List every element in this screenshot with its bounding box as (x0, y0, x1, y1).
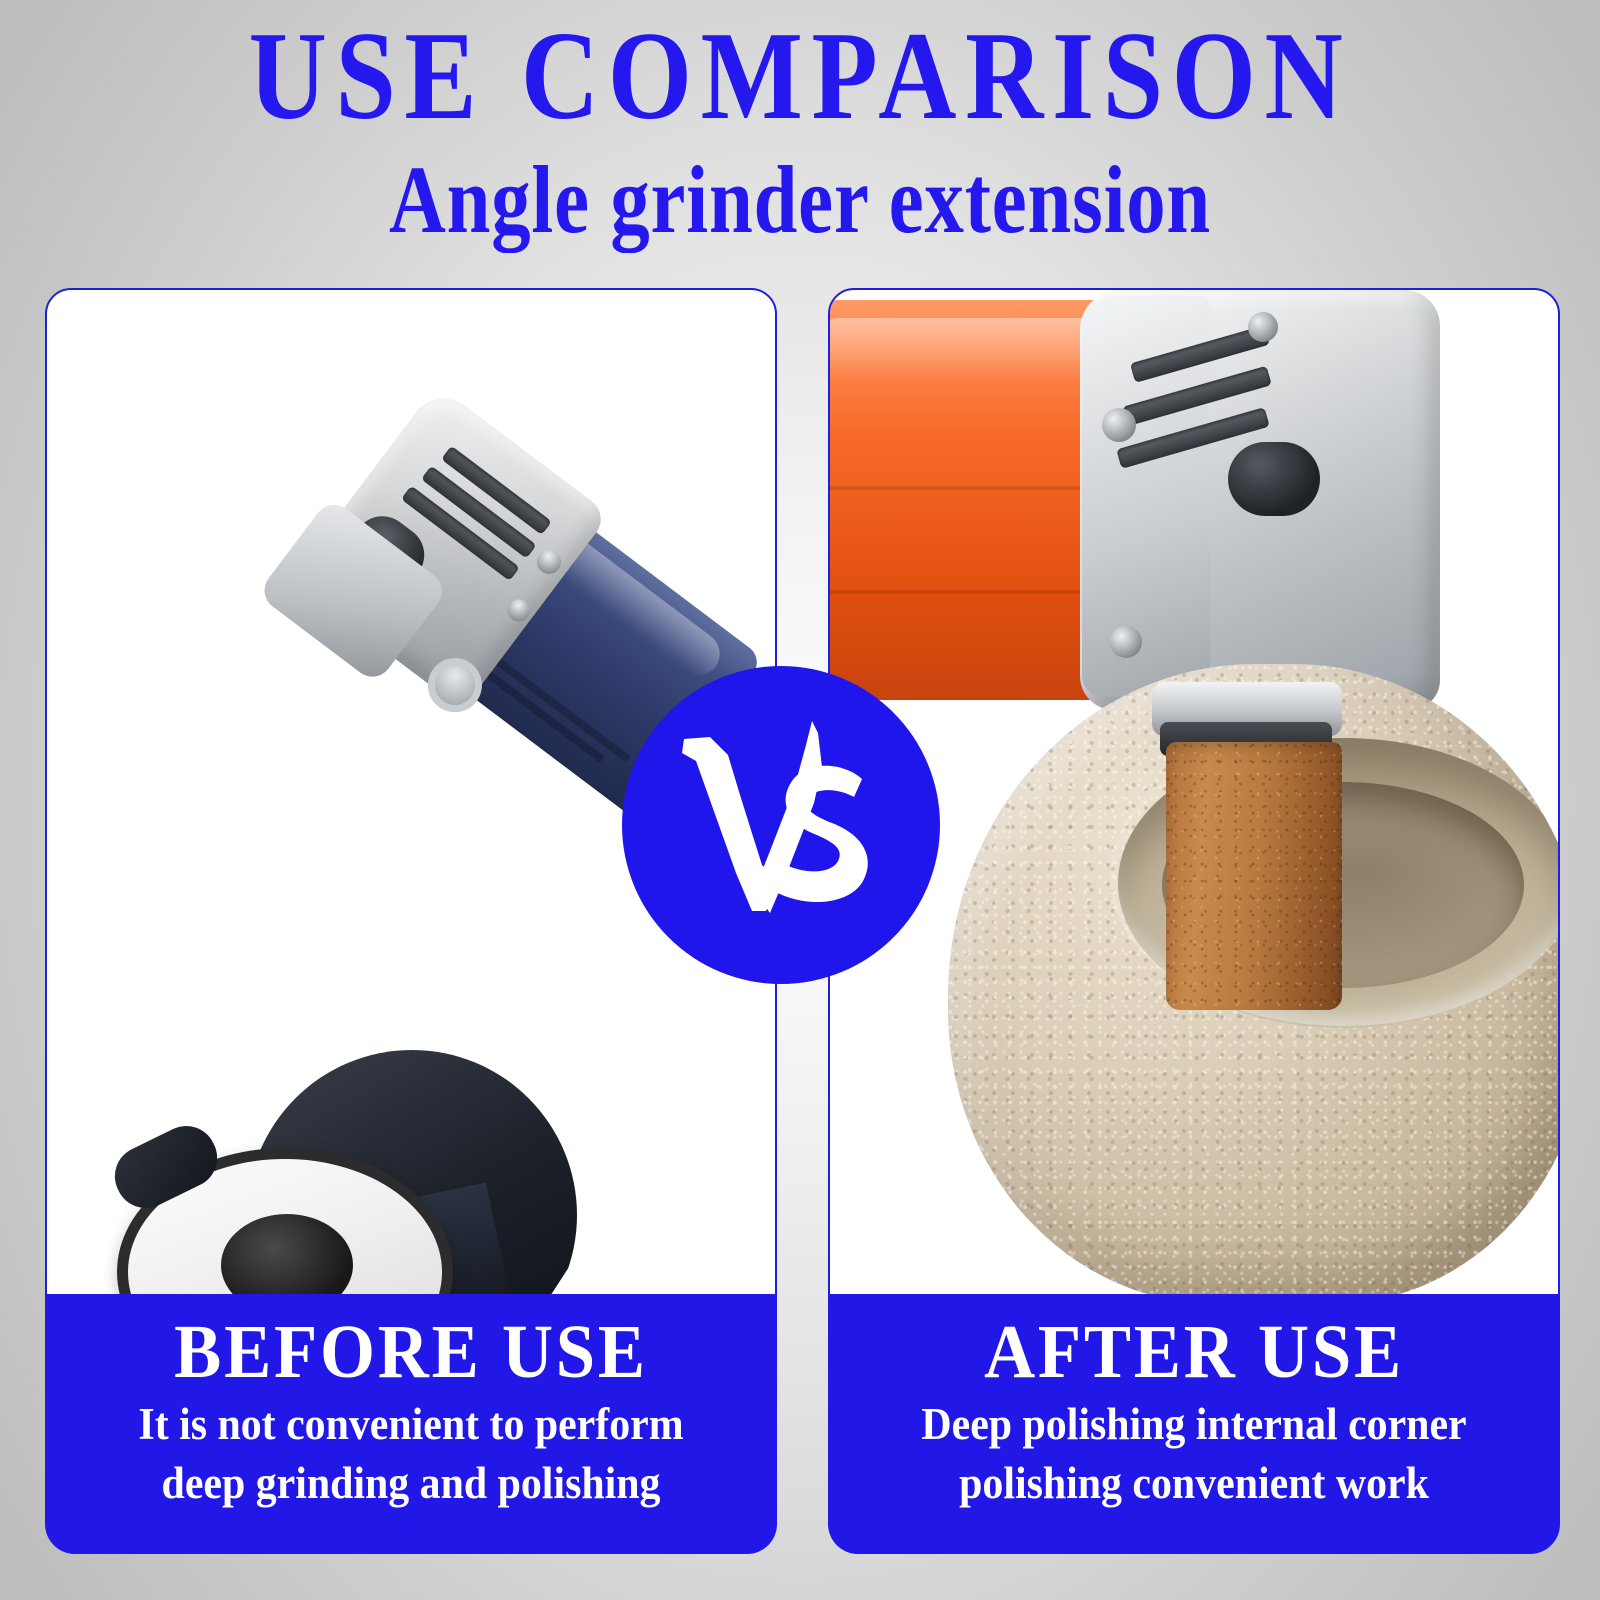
orange-angle-grinder-illustration (830, 290, 1558, 1294)
sanding-grit-texture (1166, 742, 1342, 1010)
caption-line-1: Deep polishing internal corner (854, 1396, 1535, 1453)
header: USE COMPARISON Angle grinder extension (0, 0, 1600, 268)
page-subtitle: Angle grinder extension (144, 152, 1456, 248)
screw-icon (1102, 408, 1136, 442)
after-photo (830, 290, 1558, 1294)
vs-badge (622, 666, 940, 984)
caption-heading: AFTER USE (854, 1310, 1535, 1394)
vs-badge-icon (666, 715, 896, 935)
caption-line-2: deep grinding and polishing (71, 1455, 752, 1512)
comparison-panel-after (828, 288, 1560, 1296)
grinder-power-switch[interactable] (1228, 442, 1320, 516)
caption-before: BEFORE USE It is not convenient to perfo… (45, 1294, 777, 1554)
screw-icon (1248, 312, 1278, 342)
caption-after: AFTER USE Deep polishing internal corner… (828, 1294, 1560, 1554)
caption-line-2: polishing convenient work (854, 1455, 1535, 1512)
sanding-drum (1166, 742, 1342, 1010)
screw-icon (1110, 626, 1142, 658)
caption-heading: BEFORE USE (71, 1310, 752, 1394)
page-title: USE COMPARISON (112, 14, 1488, 140)
caption-line-1: It is not convenient to perform (71, 1396, 752, 1453)
